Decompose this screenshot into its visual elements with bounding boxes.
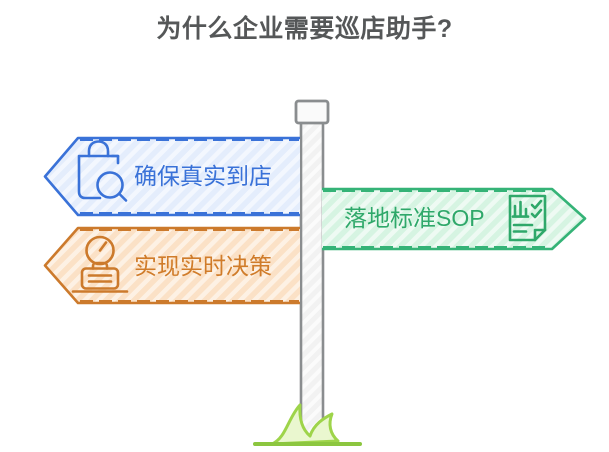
signpost-illustration (0, 0, 609, 452)
sign-orange-label: 实现实时决策 (134, 255, 272, 278)
sign-blue-label: 确保真实到店 (134, 165, 272, 188)
pole-shaft (301, 112, 323, 444)
pole-cap (296, 101, 328, 123)
infographic-canvas: 为什么企业需要巡店助手? (0, 0, 609, 452)
sign-green-label: 落地标准SOP (344, 207, 485, 230)
signpost-pole (296, 101, 328, 444)
